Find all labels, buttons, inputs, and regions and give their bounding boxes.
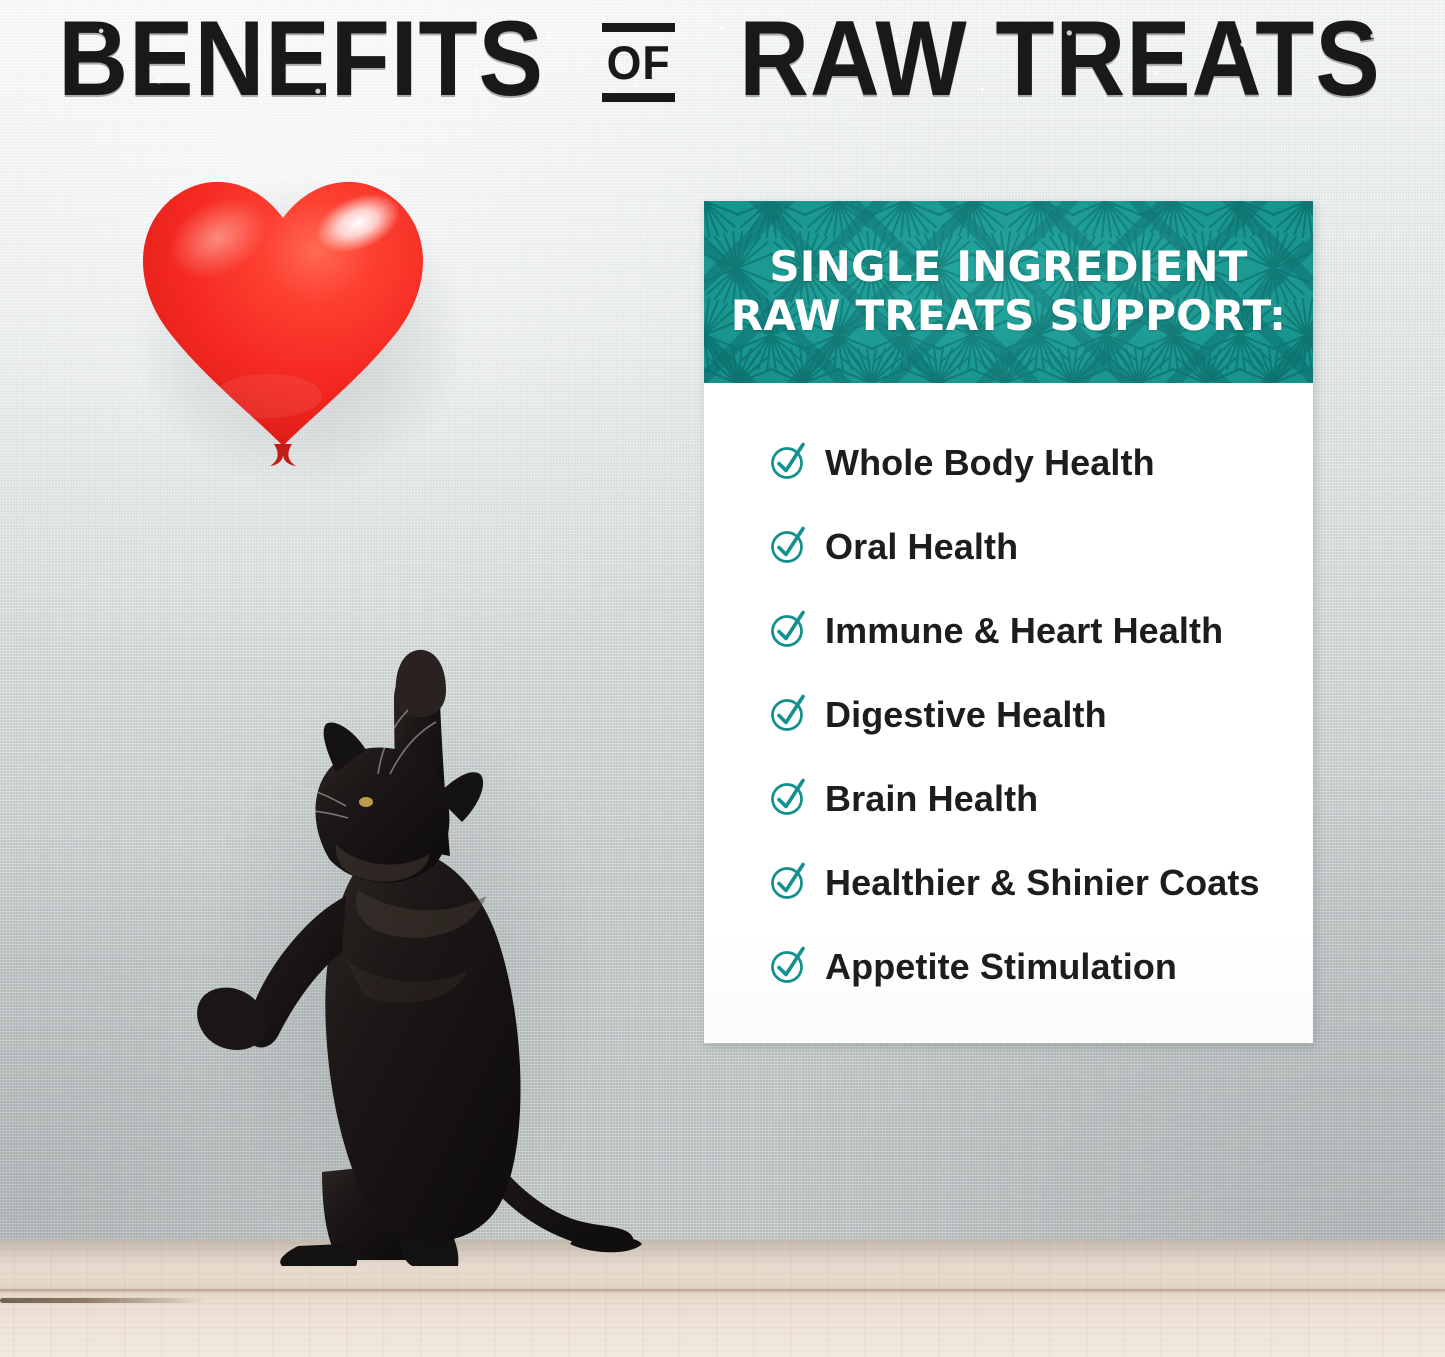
list-item: Appetite Stimulation	[704, 925, 1313, 1009]
red-heart-balloon	[108, 128, 458, 488]
check-circle-icon	[768, 693, 808, 733]
list-item-label: Whole Body Health	[825, 445, 1155, 481]
balloon-lower-sheen	[214, 374, 322, 418]
card-header-title: SINGLE INGREDIENT RAW TREATS SUPPORT:	[717, 243, 1300, 340]
check-circle-icon	[768, 609, 808, 649]
list-item: Whole Body Health	[704, 421, 1313, 505]
check-circle-icon	[768, 945, 808, 985]
list-item-label: Brain Health	[825, 781, 1038, 817]
check-circle-icon	[768, 441, 808, 481]
title-connector-bar-top	[602, 23, 675, 32]
list-item: Immune & Heart Health	[704, 589, 1313, 673]
title-connector-group: OF	[602, 19, 675, 102]
list-item-label: Appetite Stimulation	[825, 949, 1177, 985]
list-item: Healthier & Shinier Coats	[704, 841, 1313, 925]
black-cat	[150, 560, 690, 1290]
list-item-label: Digestive Health	[825, 697, 1107, 733]
infographic-canvas: BENEFITS OF RAW TREATS	[0, 0, 1445, 1357]
cat-paw-raised	[396, 650, 446, 717]
list-item: Digestive Health	[704, 673, 1313, 757]
check-circle-icon	[768, 525, 808, 565]
check-circle-icon	[768, 777, 808, 817]
list-item-label: Oral Health	[825, 529, 1018, 565]
list-item: Brain Health	[704, 757, 1313, 841]
cat-foot-left	[280, 1244, 357, 1266]
card-header: SINGLE INGREDIENT RAW TREATS SUPPORT:	[704, 201, 1313, 383]
title-word-of: OF	[604, 32, 674, 93]
check-circle-icon	[768, 861, 808, 901]
title-word-benefits: BENEFITS	[58, 12, 544, 108]
title-word-raw-treats: RAW TREATS	[740, 12, 1382, 108]
card-header-line-2: RAW TREATS SUPPORT:	[731, 292, 1286, 341]
list-item-label: Healthier & Shinier Coats	[825, 865, 1260, 901]
list-item: Oral Health	[704, 505, 1313, 589]
card-body: Whole Body Health Oral Health	[704, 383, 1313, 1043]
benefits-list: Whole Body Health Oral Health	[704, 421, 1313, 1009]
list-item-label: Immune & Heart Health	[825, 613, 1223, 649]
page-title: BENEFITS OF RAW TREATS	[0, 8, 1445, 112]
cat-eye	[359, 797, 373, 807]
title-connector-bar-bottom	[602, 93, 675, 102]
card-header-line-1: SINGLE INGREDIENT	[731, 243, 1286, 292]
benefits-card: SINGLE INGREDIENT RAW TREATS SUPPORT: Wh…	[704, 201, 1313, 1043]
wood-knot-mark	[0, 1298, 205, 1303]
